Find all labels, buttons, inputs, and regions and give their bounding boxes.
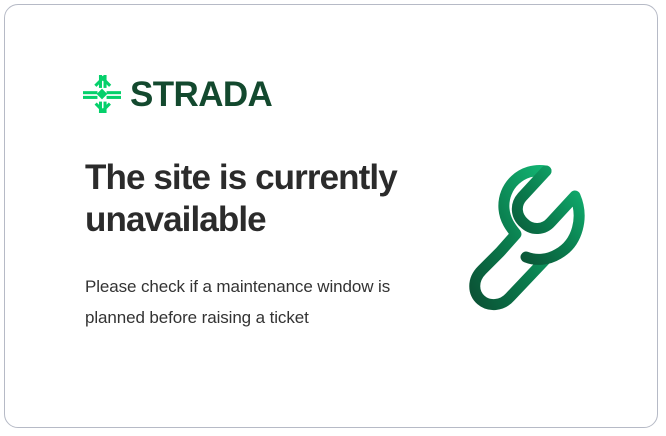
brand-logo: STRADA [83, 75, 272, 113]
status-card: STRADA The site is currently unavailable… [4, 4, 658, 428]
brand-wordmark: STRADA [130, 77, 272, 112]
page-title: The site is currently unavailable [85, 157, 425, 241]
page-description: Please check if a maintenance window is … [85, 271, 395, 333]
wrench-icon [460, 155, 620, 315]
error-page: STRADA The site is currently unavailable… [0, 0, 666, 436]
asterisk-starburst-icon [83, 75, 121, 113]
